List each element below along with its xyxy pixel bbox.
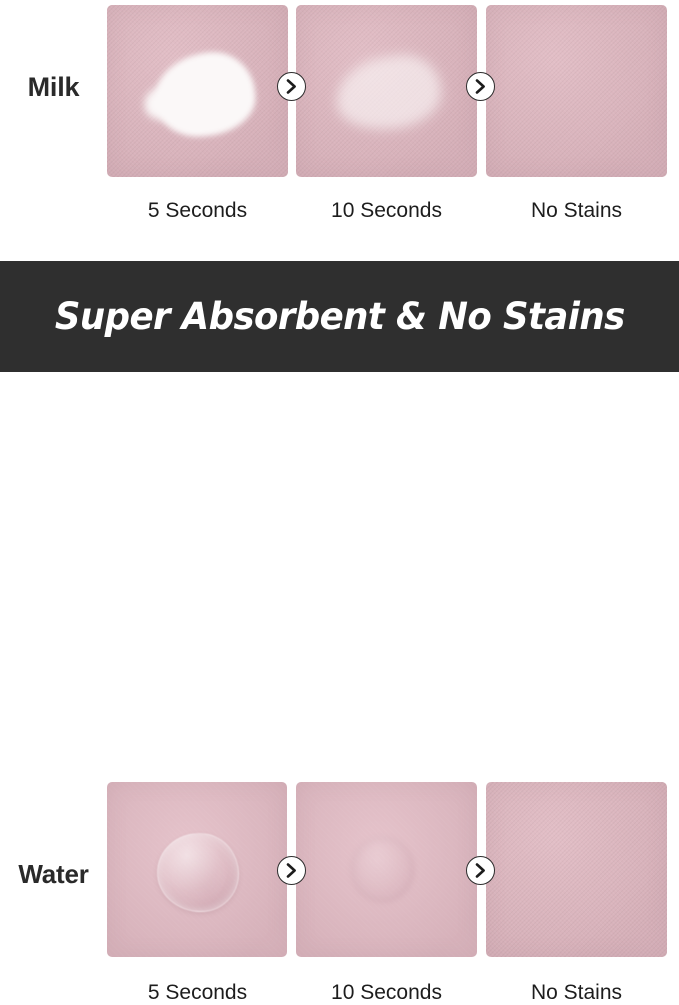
caption-milk-1: 5 Seconds [107,199,288,223]
swatch-panel-water-no-stains [486,782,667,957]
demo-row-milk: Milk 5 Seconds 10 Seconds No Stains [0,0,679,253]
water-droplet [157,833,238,912]
swatch-panel-milk-5-seconds [107,5,288,177]
water-stain-faded [350,836,415,903]
caption-water-1: 5 Seconds [107,981,288,1005]
swatch-panel-milk-no-stains [486,5,667,177]
caption-milk-2: 10 Seconds [296,199,477,223]
row-label-milk: Milk [0,72,107,103]
swatch-panel-water-5-seconds [107,782,287,957]
milk-stain-fresh [150,48,259,141]
caption-water-3: No Stains [486,981,667,1005]
caption-water-2: 10 Seconds [296,981,477,1005]
chevron-right-icon [466,856,495,885]
swatch-panel-water-10-seconds [296,782,477,957]
promo-banner: Super Absorbent & No Stains [0,261,679,372]
caption-milk-3: No Stains [486,199,667,223]
demo-row-water: Water 5 Seconds 10 Seconds No Stains [0,380,679,626]
milk-stain-faded [331,50,445,136]
promo-banner-headline: Super Absorbent & No Stains [55,295,625,338]
chevron-right-icon [277,72,306,101]
swatch-panel-milk-10-seconds [296,5,477,177]
row-label-water: Water [0,859,107,890]
chevron-right-icon [466,72,495,101]
chevron-right-icon [277,856,306,885]
